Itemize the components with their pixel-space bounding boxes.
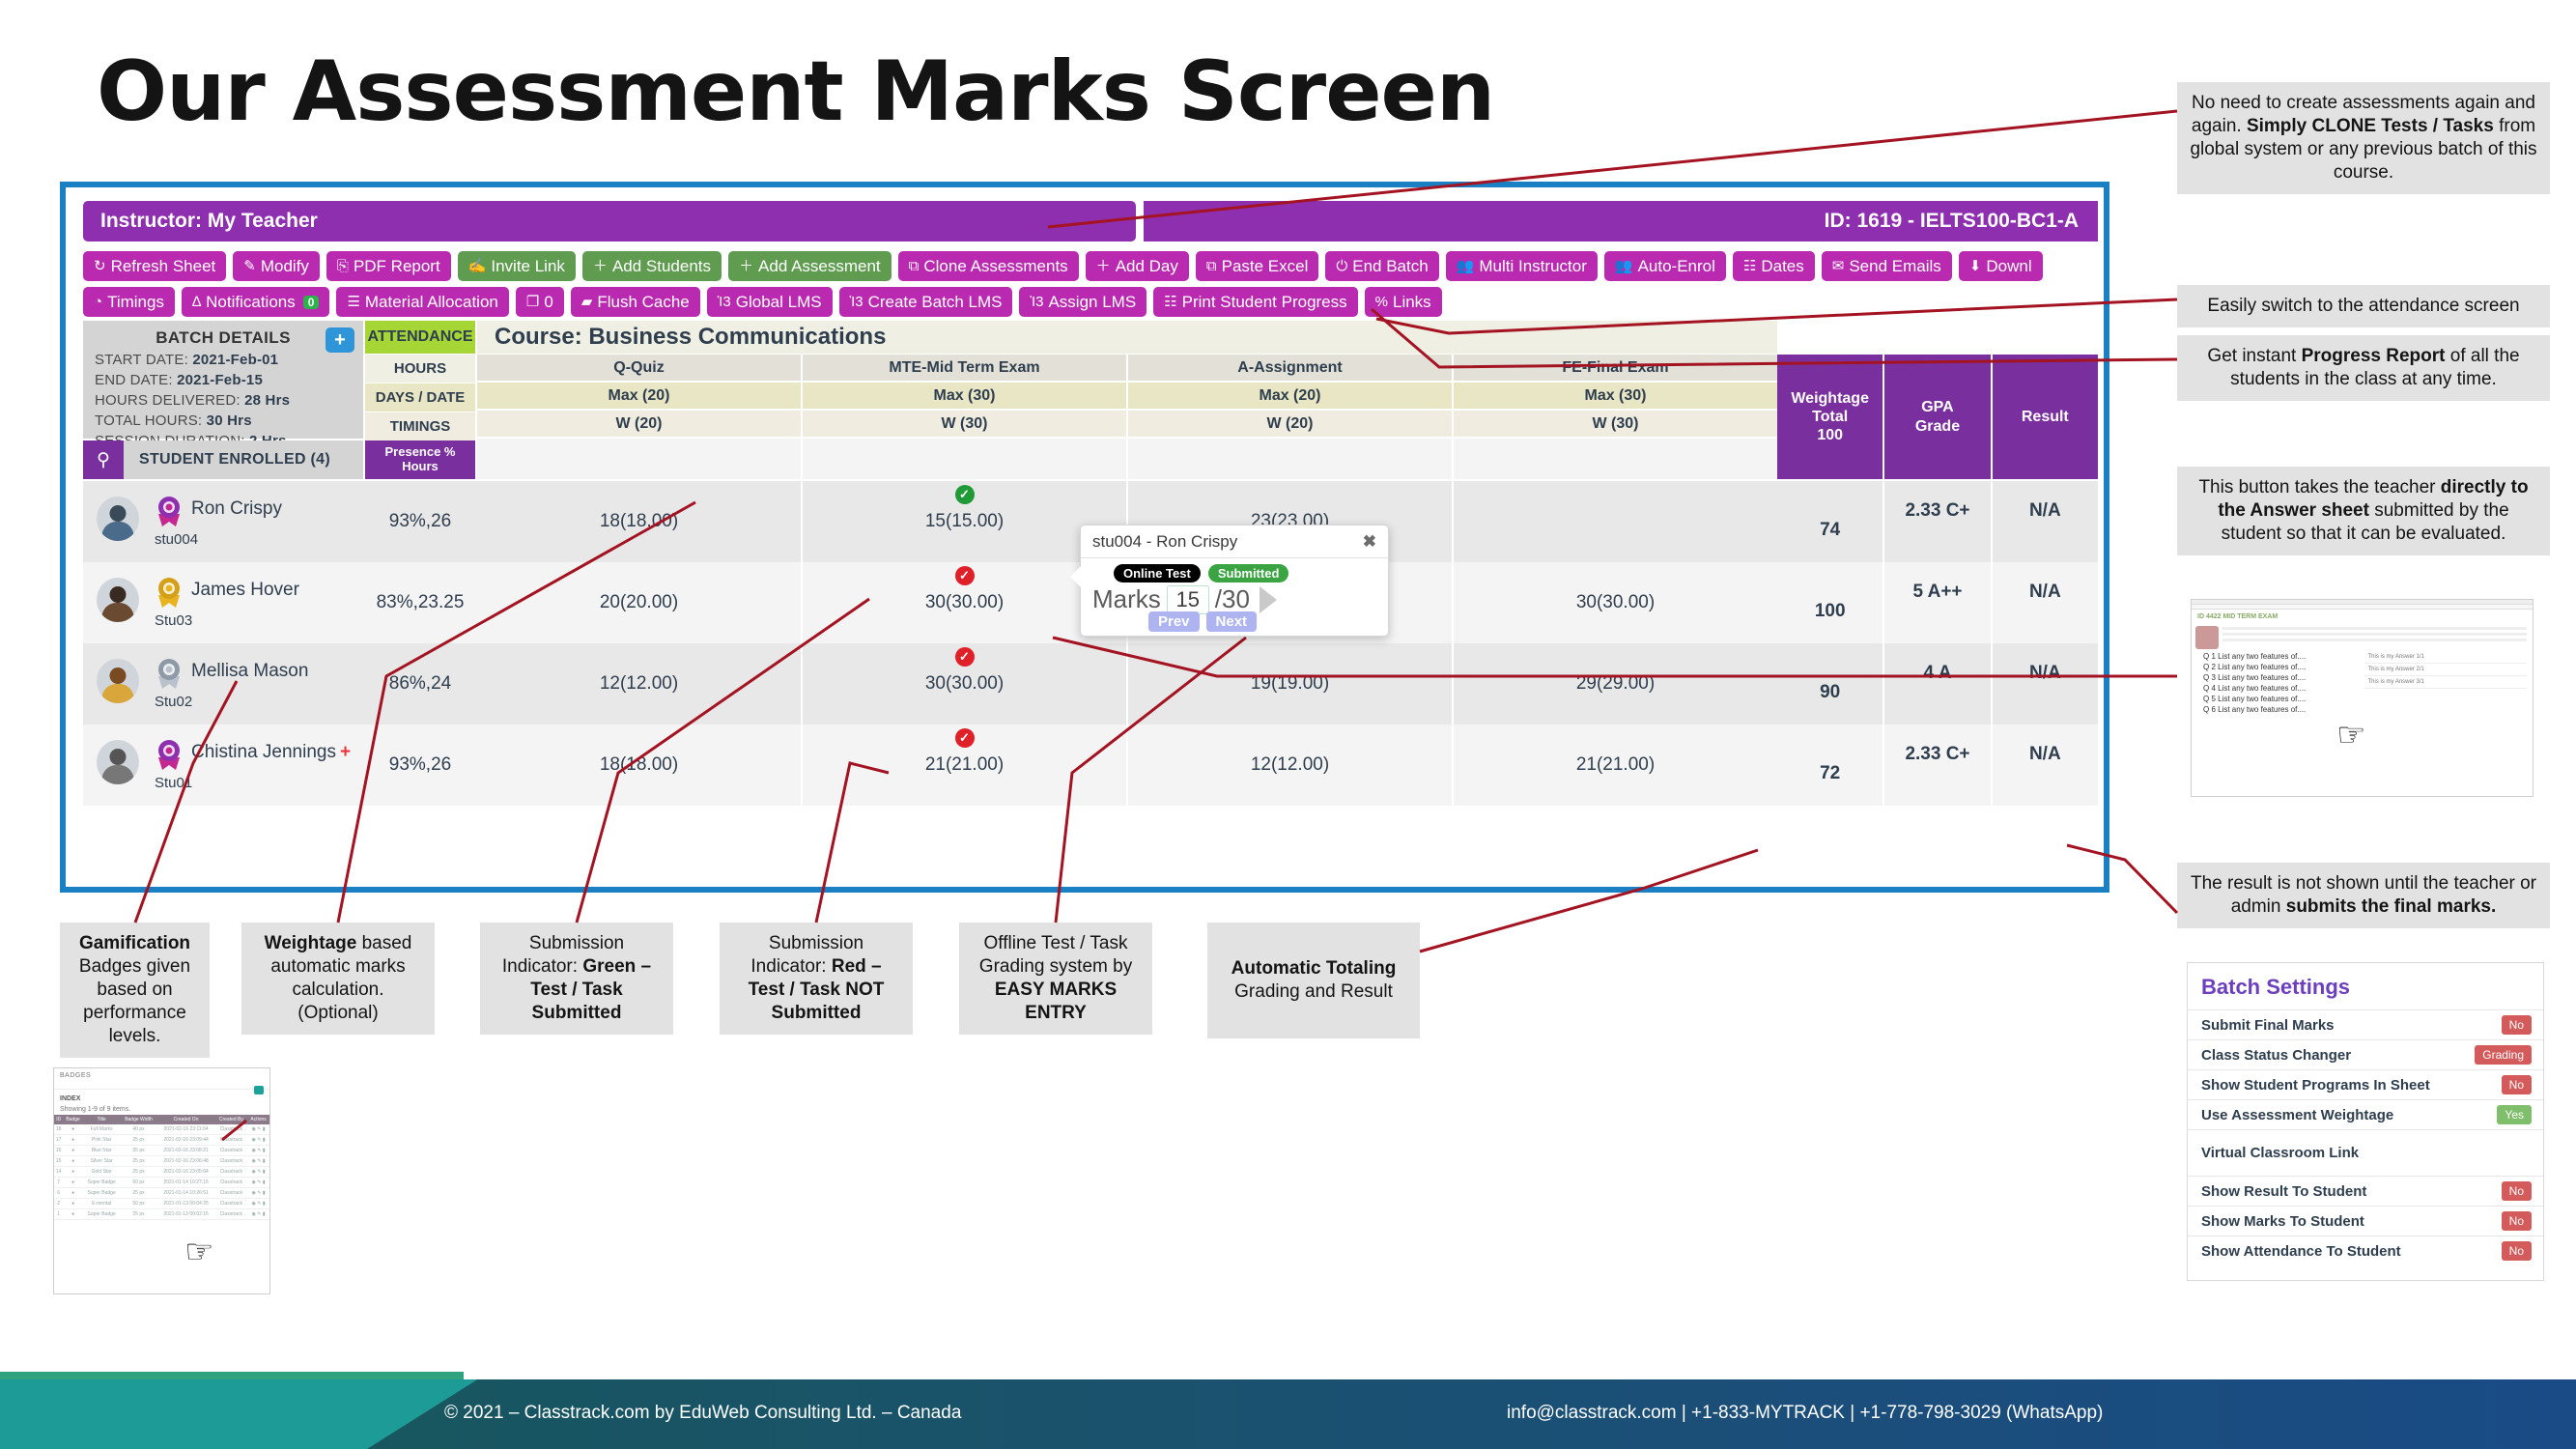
- batch-setting-value[interactable]: No: [2502, 1075, 2532, 1094]
- badges-thumb-index: INDEX: [54, 1089, 269, 1104]
- notifications-count-badge: 0: [303, 296, 320, 309]
- marks-value: 20(20.00): [600, 592, 678, 613]
- toolbar-button-notifications[interactable]: ∆Notifications0: [182, 287, 329, 317]
- badges-cell: ◉ ✎ ▮: [247, 1135, 269, 1146]
- batch-setting-row[interactable]: Use Assessment WeightageYes: [2188, 1099, 2543, 1129]
- toolbar-secondary[interactable]: ◔Timings∆Notifications0☰Material Allocat…: [83, 287, 2098, 317]
- badges-column-header: Title: [83, 1115, 121, 1124]
- toolbar-button-0[interactable]: ❐0: [516, 287, 564, 317]
- page-footer: © 2021 – Classtrack.com by EduWeb Consul…: [0, 1348, 2576, 1449]
- refresh-icon: ↻: [94, 259, 106, 273]
- batch-setting-value[interactable]: Grading: [2475, 1045, 2532, 1065]
- badges-column-header: Badge: [63, 1115, 82, 1124]
- marks-cells: 18(18.00)✓21(21.00)12(12.00)21(21.00): [477, 724, 1777, 806]
- badges-row: 6●Super Badge25 px2021-01-14 10:26:51Cla…: [54, 1188, 269, 1199]
- badges-cell: 2021-01-14 10:26:51: [157, 1188, 215, 1199]
- instructor-bar: Instructor: My Teacher: [83, 201, 1136, 241]
- marks-value: 15(15.00): [925, 511, 1004, 532]
- badges-column-header: ID: [54, 1115, 63, 1124]
- toolbar-button-label: Material Allocation: [365, 294, 498, 310]
- badges-cell: 25 px: [121, 1146, 157, 1156]
- badges-cell: 7: [54, 1178, 63, 1188]
- badges-cell: 2: [54, 1199, 63, 1209]
- summary-cells: 742.33 C+N/A: [1777, 481, 2098, 562]
- toolbar-button-label: Timings: [107, 294, 164, 310]
- marks-cell[interactable]: [1454, 481, 1777, 562]
- result-value: N/A: [1993, 481, 2098, 562]
- assessment-headers: Q-QuizMax (20)W (20)MTE-Mid Term ExamMax…: [477, 355, 1777, 479]
- callout-gamification-b: Badges given based on performance levels…: [79, 956, 190, 1046]
- marks-value: 30(30.00): [925, 673, 1004, 695]
- batch-setting-row[interactable]: Show Student Programs In SheetNo: [2188, 1069, 2543, 1099]
- presence-value: 93%,26: [365, 724, 475, 806]
- toolbar-button-multi-instructor[interactable]: 👥Multi Instructor: [1446, 251, 1598, 281]
- header-result: Result: [1993, 355, 2098, 479]
- toolbar-button-dates[interactable]: ☷Dates: [1733, 251, 1815, 281]
- popup-tail: [1070, 566, 1081, 587]
- link-icon: %: [1375, 295, 1388, 309]
- footer-copyright: © 2021 – Classtrack.com by EduWeb Consul…: [444, 1403, 961, 1424]
- course-title: Course: Business Communications: [477, 321, 1777, 354]
- batch-detail-row: HOURS DELIVERED: 28 Hrs: [95, 392, 352, 409]
- callout-automatic-totaling: Automatic Totaling Grading and Result: [1207, 923, 1420, 1038]
- batch-settings-title: Batch Settings: [2188, 963, 2543, 1009]
- header-weightage-l2: Total: [1791, 408, 1869, 426]
- badges-cell: 2021-01-13 00:02:15: [157, 1209, 215, 1220]
- badges-cell: ◉ ✎ ▮: [247, 1209, 269, 1220]
- marks-value: 21(21.00): [925, 754, 1004, 776]
- assessment-column: A-AssignmentMax (20)W (20): [1128, 355, 1454, 479]
- gamification-badge-silver-icon: [155, 657, 184, 690]
- batch-detail-value: 28 Hrs: [244, 392, 290, 409]
- badges-cell: ◉ ✎ ▮: [247, 1199, 269, 1209]
- weightage-total-value: 72: [1777, 724, 1884, 806]
- search-icon[interactable]: ⚲: [83, 440, 124, 479]
- badges-cell: ●: [63, 1178, 82, 1188]
- badges-cell: Classtrack: [215, 1135, 248, 1146]
- callout-gamification: Gamification Badges given based on perfo…: [60, 923, 210, 1058]
- assessment-weight: W (30): [1454, 411, 1777, 439]
- gamification-badge-pink-icon: [155, 495, 184, 527]
- toolbar-button-print-student-progress[interactable]: ☷Print Student Progress: [1153, 287, 1357, 317]
- assessment-name: A-Assignment: [1128, 355, 1452, 383]
- marks-cell[interactable]: 21(21.00): [1454, 724, 1777, 806]
- summary-cells: 1005 A++N/A: [1777, 562, 2098, 643]
- clone-icon: ⧉: [909, 259, 920, 273]
- badges-cell: 2021-02-16 23:05:04: [157, 1167, 215, 1178]
- toolbar-button-flush-cache[interactable]: ▰Flush Cache: [571, 287, 700, 317]
- cursor-hand-icon-2: ☞: [2336, 716, 2365, 754]
- toolbar-button-downl[interactable]: ⬇Downl: [1959, 251, 2043, 281]
- batch-setting-row[interactable]: Show Marks To StudentNo: [2188, 1206, 2543, 1236]
- badges-cell: 50 px: [121, 1199, 157, 1209]
- marks-max-label: /30: [1215, 584, 1250, 614]
- badges-column-header: Actions: [247, 1115, 269, 1124]
- answer-question: Q 2 List any two features of....: [2197, 662, 2361, 672]
- marks-value: 18(18.00): [600, 511, 678, 532]
- presence-value: 83%,23.25: [365, 562, 475, 643]
- popup-tags: Online Test Submitted: [1114, 564, 1378, 582]
- batch-detail-row: END DATE: 2021-Feb-15: [95, 372, 352, 388]
- answer-block: This is my Answer 1/1: [2364, 651, 2528, 664]
- next-button[interactable]: Next: [1206, 611, 1258, 632]
- calendar-icon: ☷: [1743, 259, 1756, 273]
- callout-progress-b: Progress Report: [2302, 346, 2446, 366]
- badges-cell: Classtrack: [215, 1124, 248, 1135]
- marks-value: 19(19.00): [1251, 673, 1329, 695]
- student-name[interactable]: Chistina Jennings+: [191, 742, 351, 763]
- header-gpa-grade: GPA Grade: [1884, 355, 1992, 479]
- toolbar-button-end-batch[interactable]: ⏻End Batch: [1325, 251, 1438, 281]
- badges-cell: Classtrack: [215, 1146, 248, 1156]
- cursor-hand-icon: ☞: [184, 1233, 213, 1271]
- marks-value: 12(12.00): [1251, 754, 1329, 776]
- student-id: Stu01: [155, 775, 192, 791]
- marks-entry-popup[interactable]: stu004 - Ron Crispy ✖ Online Test Submit…: [1080, 525, 1389, 637]
- badges-cell: ◉ ✎ ▮: [247, 1146, 269, 1156]
- batch-setting-row[interactable]: Show Result To StudentNo: [2188, 1176, 2543, 1206]
- assessment-column: FE-Final ExamMax (30)W (30): [1454, 355, 1777, 479]
- toolbar-button-label: Multi Instructor: [1479, 258, 1586, 274]
- badges-cell: 17: [54, 1135, 63, 1146]
- badges-cell: ◉ ✎ ▮: [247, 1178, 269, 1188]
- batch-setting-row[interactable]: Virtual Classroom Link: [2188, 1129, 2543, 1176]
- badges-row: 15●Silver Star25 px2021-02-16 23:06:48Cl…: [54, 1156, 269, 1167]
- toolbar-button-assign-lms[interactable]: Ἱ3Assign LMS: [1019, 287, 1146, 317]
- close-icon[interactable]: ✖: [1363, 532, 1376, 552]
- badges-screenshot-thumbnail: BADGES INDEX Showing 1-9 of 9 items. IDB…: [53, 1067, 270, 1294]
- result-value: N/A: [1993, 643, 2098, 724]
- badges-cell: Super Badge: [83, 1209, 121, 1220]
- toolbar-button-label: Create Batch LMS: [868, 294, 1003, 310]
- summary-headers: Weightage Total 100 GPA Grade Result: [1777, 355, 2098, 479]
- gpa-grade-value: 5 A++: [1884, 562, 1992, 643]
- batch-setting-label: Show Attendance To Student: [2201, 1243, 2401, 1260]
- callout-red-indicator: Submission Indicator: Red – Test / Task …: [720, 923, 913, 1035]
- toolbar-button-material-allocation[interactable]: ☰Material Allocation: [336, 287, 508, 317]
- badges-cell: Pink Star: [83, 1135, 121, 1146]
- toolbar-button-auto-enrol[interactable]: 👥Auto-Enrol: [1604, 251, 1726, 281]
- student-name[interactable]: Mellisa Mason: [191, 661, 308, 682]
- toolbar-button-label: Downl: [1986, 258, 2031, 274]
- gpa-grade-value: 2.33 C+: [1884, 724, 1992, 806]
- marks-label: Marks: [1092, 584, 1161, 614]
- clock-icon: ◔: [94, 295, 102, 309]
- toolbar-button-pdf-report[interactable]: ⎘PDF Report: [326, 251, 451, 281]
- batch-setting-value[interactable]: No: [2502, 1015, 2532, 1035]
- answer-question: Q 5 List any two features of....: [2197, 694, 2361, 704]
- toolbar-button-label: Auto-Enrol: [1638, 258, 1715, 274]
- badges-cell: 25 px: [121, 1188, 157, 1199]
- answer-question: Q 4 List any two features of....: [2197, 683, 2361, 694]
- student-id: Stu03: [155, 612, 192, 629]
- badges-cell: ●: [63, 1124, 82, 1135]
- student-enrolled-label: STUDENT ENROLLED (4): [139, 451, 330, 469]
- avatar: [97, 578, 139, 622]
- callout-green-indicator: Submission Indicator: Green – Test / Tas…: [480, 923, 673, 1035]
- answer-question: Q 1 List any two features of....: [2197, 651, 2361, 662]
- marks-cell[interactable]: ✓21(21.00): [803, 724, 1128, 806]
- batch-setting-label: Show Result To Student: [2201, 1183, 2366, 1200]
- callout-offline-a: Offline Test / Task Grading system by: [979, 933, 1132, 977]
- file-icon: ❐: [526, 295, 539, 309]
- badges-cell: 40 px: [121, 1124, 157, 1135]
- marks-input[interactable]: [1167, 585, 1209, 614]
- toolbar-button-add-assessment[interactable]: ＋Add Assessment: [728, 251, 892, 281]
- batch-setting-row[interactable]: Class Status ChangerGrading: [2188, 1039, 2543, 1069]
- assessment-spacer: [477, 439, 801, 479]
- callout-result-hidden: The result is not shown until the teache…: [2177, 863, 2550, 928]
- callout-progress-a: Get instant: [2207, 346, 2301, 366]
- batch-setting-value[interactable]: No: [2502, 1211, 2532, 1231]
- toolbar-button-label: Send Emails: [1849, 258, 1940, 274]
- badges-cell: ●: [63, 1167, 82, 1178]
- toolbar-button-label: Add Students: [612, 258, 711, 274]
- badges-cell: 25 px: [121, 1209, 157, 1220]
- cap-icon: Ἱ3: [1030, 295, 1043, 309]
- marks-cell[interactable]: 29(29.00): [1454, 643, 1777, 724]
- badges-row: 16●Blue Star25 px2021-02-16 23:08:21Clas…: [54, 1146, 269, 1156]
- gpa-grade-value: 2.33 C+: [1884, 481, 1992, 562]
- assessment-spacer: [1128, 439, 1452, 479]
- weightage-total-value: 74: [1777, 481, 1884, 562]
- badges-cell: Classtrack: [215, 1156, 248, 1167]
- toolbar-button-timings[interactable]: ◔Timings: [83, 287, 175, 317]
- marks-cell[interactable]: 30(30.00): [1454, 562, 1777, 643]
- batch-id-bar: ID: 1619 - IELTS100-BC1-A: [1144, 201, 2098, 241]
- answer-block: This is my Answer 2/1: [2364, 664, 2528, 676]
- presence-value: 86%,24: [365, 643, 475, 724]
- assessment-column: Q-QuizMax (20)W (20): [477, 355, 803, 479]
- popup-student-label: stu004 - Ron Crispy: [1092, 532, 1237, 552]
- callout-gamification-a: Gamification: [79, 933, 190, 953]
- toolbar-button-label: End Batch: [1352, 258, 1428, 274]
- assessment-max: Max (30): [803, 383, 1126, 411]
- assessment-weight: W (20): [1128, 411, 1452, 439]
- toolbar-button-label: Add Day: [1116, 258, 1178, 274]
- marks-value: 30(30.00): [1576, 592, 1655, 613]
- batch-detail-value: 2021-Feb-01: [192, 352, 278, 368]
- pdf-icon: ⎘: [337, 259, 349, 273]
- batch-setting-row[interactable]: Submit Final MarksNo: [2188, 1009, 2543, 1039]
- marks-value: 12(12.00): [600, 673, 678, 695]
- popup-marks-row: Marks /30: [1092, 584, 1378, 614]
- batch-settings-panel: Batch Settings Submit Final MarksNoClass…: [2187, 962, 2544, 1281]
- weightage-total-value: 90: [1777, 643, 1884, 724]
- header-gpa-l2: Grade: [1915, 417, 1960, 436]
- badges-cell: ◉ ✎ ▮: [247, 1167, 269, 1178]
- avatar: [97, 497, 139, 541]
- badges-cell: Classtrack: [215, 1209, 248, 1220]
- callout-answer-sheet: This button takes the teacher directly t…: [2177, 467, 2550, 555]
- batch-detail-label: TOTAL HOURS:: [95, 412, 207, 429]
- header-weightage-l1: Weightage: [1791, 389, 1869, 408]
- badges-cell: ●: [63, 1156, 82, 1167]
- clone-icon: ⧉: [1206, 259, 1217, 273]
- header-gpa-l1: GPA: [1915, 398, 1960, 416]
- toolbar-button-label: Paste Excel: [1222, 258, 1309, 274]
- badges-cell: Gold Star: [83, 1167, 121, 1178]
- student-name[interactable]: Ron Crispy: [191, 498, 282, 520]
- assessment-weight: W (20): [477, 411, 801, 439]
- badges-cell: Classtrack: [215, 1167, 248, 1178]
- answer-question: Q 3 List any two features of....: [2197, 672, 2361, 683]
- invite-icon: ✍: [468, 259, 487, 273]
- popup-nav[interactable]: Prev Next: [1148, 611, 1378, 632]
- result-value: N/A: [1993, 724, 2098, 806]
- toolbar-button-modify[interactable]: ✎Modify: [233, 251, 320, 281]
- badges-cell: 16: [54, 1146, 63, 1156]
- badges-cell: ●: [63, 1135, 82, 1146]
- summary-cells: 722.33 C+N/A: [1777, 724, 2098, 806]
- batch-setting-row[interactable]: Show Attendance To StudentNo: [2188, 1236, 2543, 1265]
- power-icon: ⏻: [1336, 259, 1347, 273]
- answer-text: This is my Answer 2/1: [2364, 667, 2528, 672]
- toolbar-button-add-day[interactable]: ＋Add Day: [1086, 251, 1189, 281]
- marks-cell[interactable]: 18(18.00): [477, 481, 803, 562]
- gamification-badge-pink-icon: [155, 738, 184, 771]
- badges-cell: 25 px: [121, 1167, 157, 1178]
- table-row: Chistina Jennings+Stu0193%,2618(18.00)✓2…: [83, 724, 2098, 806]
- presence-header-line1: Presence %: [385, 445, 456, 460]
- batch-detail-label: END DATE:: [95, 372, 177, 388]
- callout-answer-a: This button takes the teacher: [2198, 477, 2440, 497]
- batch-setting-value[interactable]: No: [2502, 1181, 2532, 1201]
- calendar-icon: ☷: [1164, 295, 1176, 309]
- batch-detail-row: TOTAL HOURS: 30 Hrs: [95, 412, 352, 429]
- presence-header: Presence % Hours: [365, 440, 475, 479]
- badges-row: 18●Full Marks40 px2021-02-16 23:11:04Cla…: [54, 1124, 269, 1135]
- answer-text: This is my Answer 3/1: [2364, 679, 2528, 685]
- badges-cell: Classtrack: [215, 1199, 248, 1209]
- row-label-days-date: DAYS / DATE: [365, 384, 475, 412]
- toolbar-button-add-students[interactable]: ＋Add Students: [582, 251, 722, 281]
- status-badge-test-type: Online Test: [1114, 564, 1201, 582]
- badges-cell: 15: [54, 1156, 63, 1167]
- answer-text: This is my Answer 1/1: [2364, 654, 2528, 660]
- add-student-note-icon[interactable]: +: [340, 742, 351, 762]
- answer-block: This is my Answer 3/1: [2364, 676, 2528, 689]
- toolbar-button-label: Dates: [1761, 258, 1803, 274]
- toolbar-button-send-emails[interactable]: ✉Send Emails: [1822, 251, 1952, 281]
- toolbar-button-label: Global LMS: [736, 294, 822, 310]
- marks-cells: 12(12.00)✓30(30.00)19(19.00)29(29.00): [477, 643, 1777, 724]
- badges-cell: Classtrack: [215, 1178, 248, 1188]
- badges-row: 17●Pink Star25 px2021-02-16 23:09:44Clas…: [54, 1135, 269, 1146]
- row-label-hours: HOURS: [365, 355, 475, 383]
- toolbar-button-label: Clone Assessments: [923, 258, 1067, 274]
- not-submitted-icon: ✓: [955, 566, 975, 585]
- prev-button[interactable]: Prev: [1148, 611, 1200, 632]
- toolbar-button-invite-link[interactable]: ✍Invite Link: [458, 251, 576, 281]
- toolbar-button-clone-assessments[interactable]: ⧉Clone Assessments: [898, 251, 1079, 281]
- users-icon: 👥: [1457, 259, 1475, 273]
- cap-icon: Ἱ3: [718, 295, 731, 309]
- weightage-total-value: 100: [1777, 562, 1884, 643]
- badges-cell: Super Badge: [83, 1188, 121, 1199]
- toolbar-button-create-batch-lms[interactable]: Ἱ3Create Batch LMS: [839, 287, 1013, 317]
- batch-setting-label: Show Marks To Student: [2201, 1213, 2364, 1230]
- toolbar-button-refresh-sheet[interactable]: ↻Refresh Sheet: [83, 251, 226, 281]
- badges-row: 2●E-mental50 px2021-01-13 00:04:25Classt…: [54, 1199, 269, 1209]
- badges-cell: ●: [63, 1146, 82, 1156]
- batch-detail-label: START DATE:: [95, 352, 192, 368]
- badges-cell: ◉ ✎ ▮: [247, 1124, 269, 1135]
- marks-cell[interactable]: 20(20.00): [477, 562, 803, 643]
- header-weightage-l3: 100: [1791, 426, 1869, 444]
- badges-mini-table: IDBadgeTitleBadge WidthCreated OnCreated…: [54, 1115, 269, 1220]
- toolbar-button-paste-excel[interactable]: ⧉Paste Excel: [1196, 251, 1318, 281]
- presence-header-line2: Hours: [402, 460, 439, 474]
- assessment-name: FE-Final Exam: [1454, 355, 1777, 383]
- batch-setting-label: Class Status Changer: [2201, 1047, 2351, 1064]
- marks-value: 21(21.00): [1576, 754, 1655, 776]
- badges-cell: E-mental: [83, 1199, 121, 1209]
- toolbar-button-label: Print Student Progress: [1182, 294, 1347, 310]
- popup-body: Online Test Submitted Marks /30 Prev Nex…: [1081, 558, 1388, 632]
- row-label-timings: TIMINGS: [365, 412, 475, 440]
- marks-cell[interactable]: 12(12.00): [1128, 724, 1454, 806]
- student-name[interactable]: James Hover: [191, 580, 299, 601]
- batch-setting-label: Virtual Classroom Link: [2201, 1145, 2359, 1161]
- assessment-max: Max (20): [477, 383, 801, 411]
- badges-cell: ◉ ✎ ▮: [247, 1188, 269, 1199]
- attendance-tab[interactable]: ATTENDANCE: [365, 321, 475, 354]
- batch-detail-label: HOURS DELIVERED:: [95, 392, 244, 409]
- badges-cell: 18: [54, 1124, 63, 1135]
- submitted-check-icon: ✓: [955, 485, 975, 504]
- callout-attendance: Easily switch to the attendance screen: [2177, 285, 2550, 327]
- badges-cell: 2021-02-16 23:08:21: [157, 1146, 215, 1156]
- batch-setting-value[interactable]: Yes: [2497, 1105, 2532, 1124]
- header-weightage-total: Weightage Total 100: [1777, 355, 1884, 479]
- badges-cell: 14: [54, 1167, 63, 1178]
- badges-cell: 2021-01-14 10:27:16: [157, 1178, 215, 1188]
- badges-row: 7●Super Badge60 px2021-01-14 10:27:16Cla…: [54, 1178, 269, 1188]
- next-arrow-icon[interactable]: [1260, 586, 1277, 613]
- toolbar-button-links[interactable]: %Links: [1365, 287, 1442, 317]
- callout-weightage: Weightage based automatic marks calculat…: [241, 923, 435, 1035]
- toolbar-button-label: Flush Cache: [597, 294, 689, 310]
- marks-cell[interactable]: ✓30(30.00): [803, 643, 1128, 724]
- badges-row: 14●Gold Star25 px2021-02-16 23:05:04Clas…: [54, 1167, 269, 1178]
- toolbar-primary[interactable]: ↻Refresh Sheet✎Modify⎘PDF Report✍Invite …: [83, 251, 2098, 281]
- toolbar-button-global-lms[interactable]: Ἱ3Global LMS: [707, 287, 833, 317]
- result-value: N/A: [1993, 562, 2098, 643]
- badges-cell: ◉ ✎ ▮: [247, 1156, 269, 1167]
- not-submitted-icon: ✓: [955, 728, 975, 748]
- badges-cell: Silver Star: [83, 1156, 121, 1167]
- plus-icon: ＋: [739, 259, 753, 273]
- badges-cell: 1: [54, 1209, 63, 1220]
- assessment-name: MTE-Mid Term Exam: [803, 355, 1126, 383]
- cap-icon: Ἱ3: [850, 295, 863, 309]
- assessment-max: Max (30): [1454, 383, 1777, 411]
- eraser-icon: ▰: [581, 295, 593, 309]
- batch-setting-value[interactable]: No: [2502, 1241, 2532, 1261]
- toolbar-button-label: Invite Link: [491, 258, 565, 274]
- student-id: stu004: [155, 531, 198, 548]
- student-enrolled-header: ⚲ STUDENT ENROLLED (4): [83, 440, 363, 479]
- badges-cell: ●: [63, 1188, 82, 1199]
- marks-cell[interactable]: 18(18.00): [477, 724, 803, 806]
- assessment-max: Max (20): [1128, 383, 1452, 411]
- marks-cell[interactable]: 12(12.00): [477, 643, 803, 724]
- badges-cell: 2021-02-16 23:06:48: [157, 1156, 215, 1167]
- marks-cell[interactable]: 19(19.00): [1128, 643, 1454, 724]
- callout-result-b: submits the final marks.: [2286, 896, 2497, 917]
- add-batch-detail-button[interactable]: +: [326, 327, 354, 353]
